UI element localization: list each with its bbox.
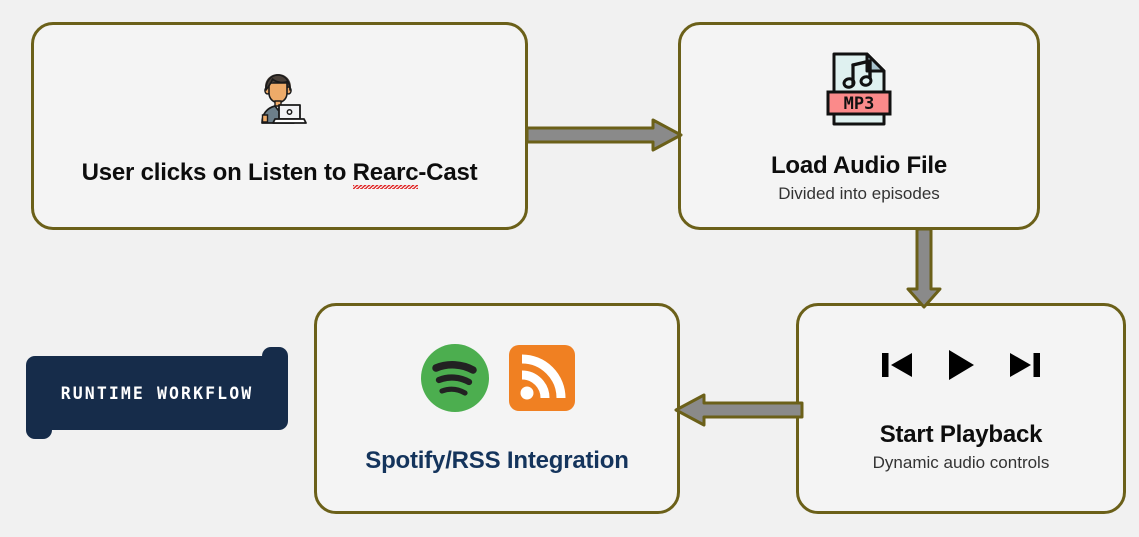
media-controls-group [876,344,1046,391]
title-prefix: User clicks on Listen to [82,159,353,186]
spotify-icon[interactable] [419,342,491,419]
arrow-user-to-load [525,117,685,153]
flow-node-title: Load Audio File [771,152,947,180]
flow-node-spotify-rss[interactable]: Spotify/RSS Integration [314,303,680,514]
previous-track-icon[interactable] [876,344,918,391]
flow-node-subtitle: Divided into episodes [778,184,940,204]
node-icon-group [419,342,575,419]
svg-text:MP3: MP3 [844,94,875,114]
flow-node-user-click[interactable]: User clicks on Listen to Rearc-Cast [31,22,528,230]
flow-node-subtitle: Dynamic audio controls [873,453,1050,473]
rss-icon[interactable] [509,345,575,416]
arrow-playback-to-integration [672,392,804,428]
person-with-laptop-icon [248,66,312,135]
play-icon[interactable] [940,344,982,391]
title-suffix: -Cast [418,159,477,186]
next-track-icon[interactable] [1004,344,1046,391]
flow-node-title: Spotify/RSS Integration [365,447,628,475]
node-icon-group: MP3 [824,49,894,134]
arrow-load-to-playback [903,227,947,309]
workflow-diagram: User clicks on Listen to Rearc-Cast MP [0,0,1139,537]
banner-label: RUNTIME WORKFLOW [26,356,288,430]
node-icon-group [248,66,312,135]
mp3-file-icon: MP3 [824,49,894,134]
runtime-workflow-banner: RUNTIME WORKFLOW [26,347,288,439]
misspelled-word: Rearc [353,159,419,186]
flow-node-title: Start Playback [880,421,1043,449]
flow-node-start-playback[interactable]: Start Playback Dynamic audio controls [796,303,1126,514]
flow-node-load-audio[interactable]: MP3 Load Audio File Divided into episode… [678,22,1040,230]
flow-node-title: User clicks on Listen to Rearc-Cast [82,159,478,187]
